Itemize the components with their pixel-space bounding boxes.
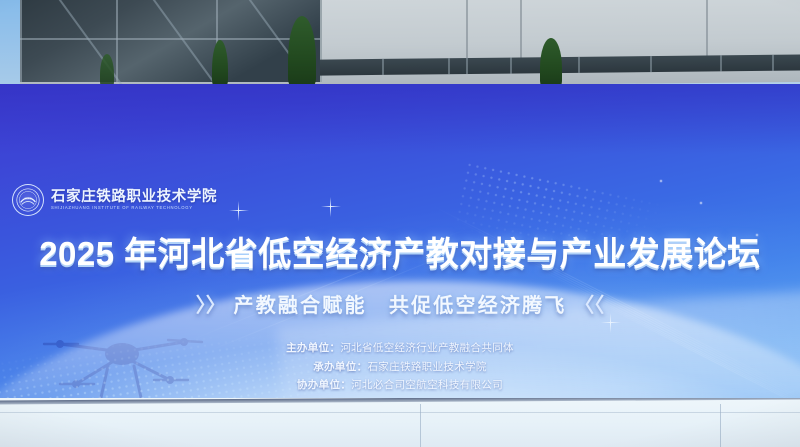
organizer-row: 协办单位：河北必合司空航空科技有限公司 [297, 377, 503, 392]
logo-name-cn: 石家庄铁路职业技术学院 [51, 190, 217, 205]
organizer-row: 主办单位：河北省低空经济行业产教融合共同体 [286, 340, 514, 355]
event-backdrop-banner: SIRT 石家庄铁路职业技术学院 SHIJIAZHUANG INSTITUTE … [0, 84, 800, 401]
wall-seam-vertical [720, 404, 721, 447]
venue-exterior-upper [0, 0, 800, 88]
banner-bottom-edge [0, 398, 800, 404]
wall-seam-vertical [420, 404, 421, 447]
chevron-right-decoration: 〈〈 [574, 295, 604, 317]
circular-university-seal-icon: SIRT [12, 184, 44, 216]
organizer-value: 河北必合司空航空科技有限公司 [351, 379, 503, 391]
event-headline: 2025 年河北省低空经济产教对接与产业发展论坛 [0, 236, 800, 272]
organizer-label: 承办单位： [313, 361, 367, 373]
chevron-left-decoration: 〉〉 [196, 295, 226, 317]
tree [100, 54, 114, 88]
organizer-value: 石家庄铁路职业技术学院 [367, 361, 486, 373]
organizer-row: 承办单位：石家庄铁路职业技术学院 [313, 359, 487, 374]
organizer-label: 主办单位： [286, 342, 340, 354]
svg-text:SIRT: SIRT [24, 196, 32, 200]
organizer-value: 河北省低空经济行业产教融合共同体 [340, 342, 514, 354]
logo-name-en: SHIJIAZHUANG INSTITUTE OF RAILWAY TECHNO… [51, 206, 217, 210]
venue-wall-lower [0, 398, 800, 447]
glass-curtain-wall [20, 0, 322, 82]
university-logo: SIRT 石家庄铁路职业技术学院 SHIJIAZHUANG INSTITUTE … [12, 184, 217, 216]
conference-banner-photo: SIRT 石家庄铁路职业技术学院 SHIJIAZHUANG INSTITUTE … [0, 0, 800, 447]
wall-seam-horizontal [0, 412, 800, 413]
event-subtitle: 〉〉 产教融合赋能 共促低空经济腾飞 〈〈 [0, 289, 800, 318]
organizer-label: 协办单位： [297, 379, 351, 391]
banner-top-shading [0, 84, 800, 154]
event-subtitle-text: 产教融合赋能 共促低空经济腾飞 [234, 295, 567, 317]
organizer-list: 主办单位：河北省低空经济行业产教融合共同体 承办单位：石家庄铁路职业技术学院 协… [0, 340, 800, 392]
